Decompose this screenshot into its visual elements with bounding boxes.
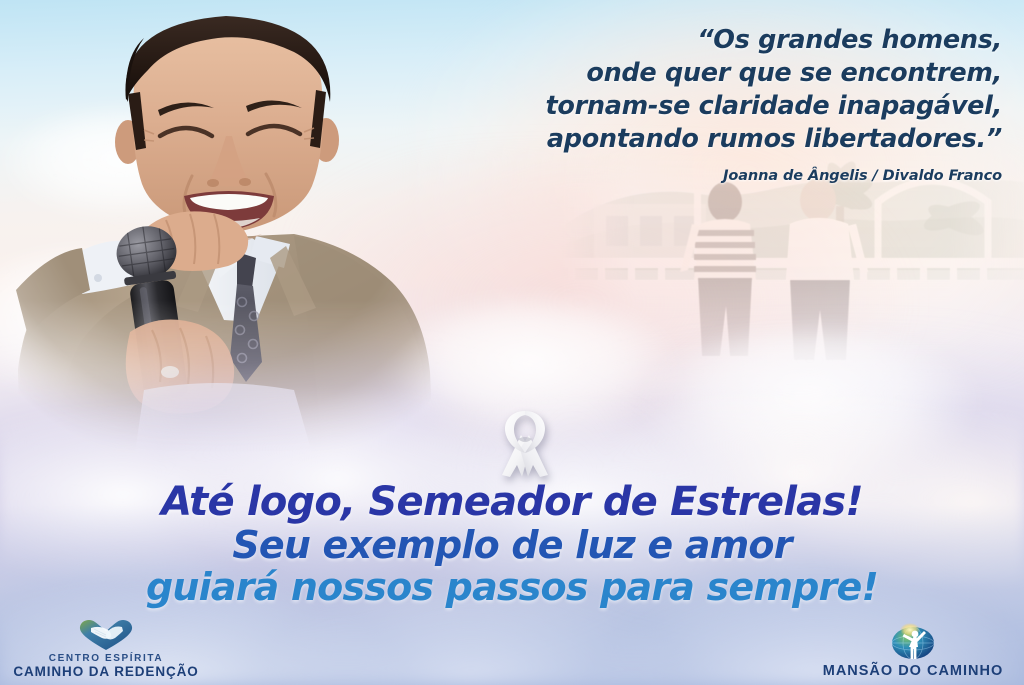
- quote-line-2: onde quer que se encontrem,: [442, 57, 1002, 90]
- memorial-ribbon-icon: [490, 405, 560, 483]
- quote-author: Joanna de Ângelis / Divaldo Franco: [442, 168, 1002, 184]
- memorial-poster: “Os grandes homens, onde quer que se enc…: [0, 0, 1024, 685]
- logo-right-line-1: MANSÃO DO CAMINHO: [808, 663, 1018, 679]
- quote-line-4: apontando rumos libertadores.”: [442, 123, 1002, 156]
- quote-line-1: “Os grandes homens,: [442, 24, 1002, 57]
- headline-line-2: Seu exemplo de luz e amor: [0, 526, 1024, 564]
- headline-block: Até logo, Semeador de Estrelas! Seu exem…: [0, 482, 1024, 606]
- logo-mansao-do-caminho[interactable]: MANSÃO DO CAMINHO: [808, 621, 1018, 679]
- heart-hands-icon: [78, 618, 134, 652]
- headline-line-3: guiará nossos passos para sempre!: [0, 568, 1024, 606]
- quote-line-3: tornam-se claridade inapagável,: [442, 90, 1002, 123]
- logo-left-line-1: CENTRO ESPÍRITA: [6, 653, 206, 664]
- logo-left-line-2: CAMINHO DA REDENÇÃO: [6, 664, 206, 679]
- logo-centro-espirita[interactable]: CENTRO ESPÍRITA CAMINHO DA REDENÇÃO: [6, 618, 206, 679]
- quote-block: “Os grandes homens, onde quer que se enc…: [442, 24, 1002, 184]
- globe-figure-icon: [885, 621, 941, 661]
- headline-line-1: Até logo, Semeador de Estrelas!: [0, 482, 1024, 522]
- portrait-divaldo-franco: [0, 0, 464, 460]
